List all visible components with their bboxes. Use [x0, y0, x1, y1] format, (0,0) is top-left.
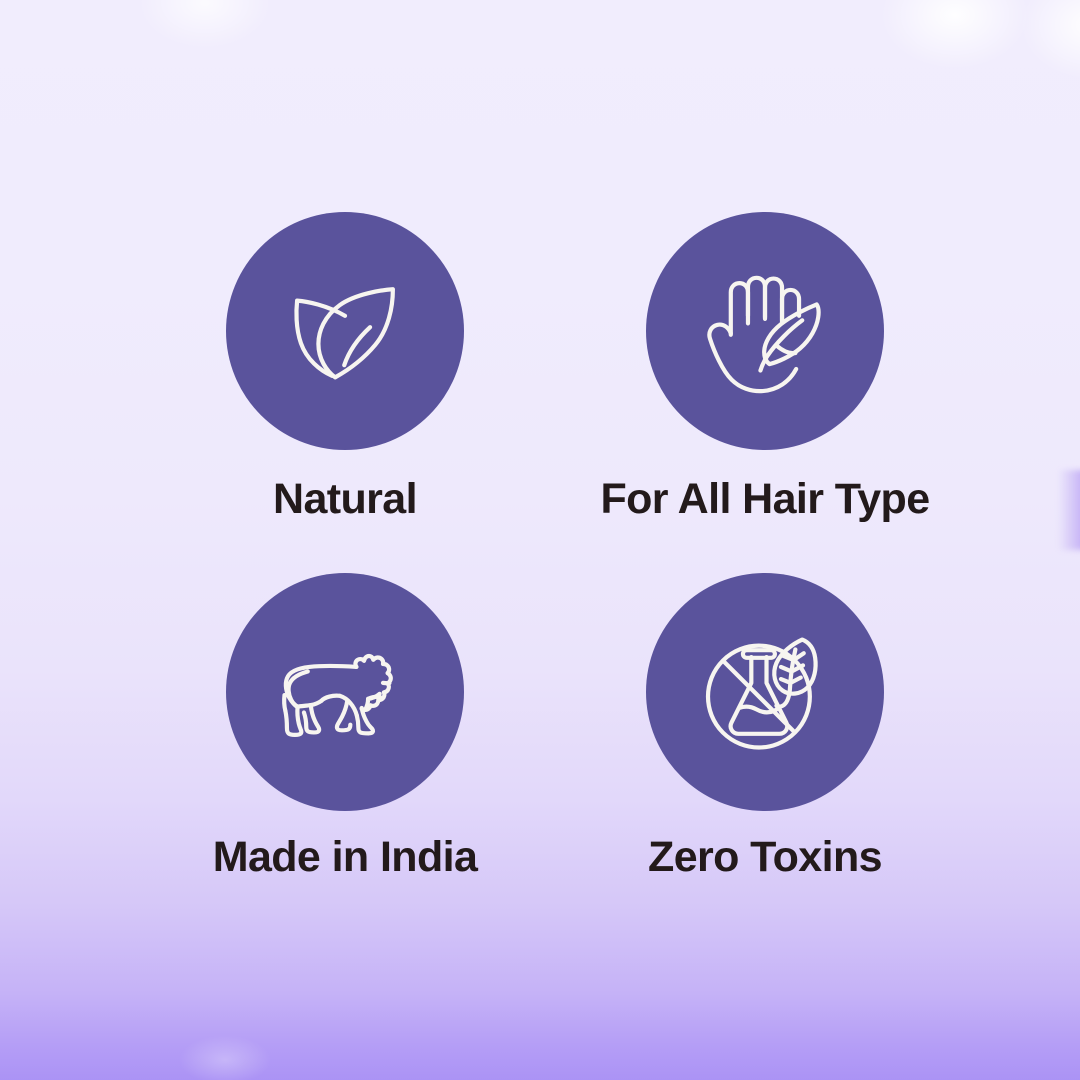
- feature-item-for-all-hair-type[interactable]: For All Hair Type: [555, 212, 975, 524]
- feature-badges-canvas: Natural: [0, 0, 1080, 1080]
- feature-label-zero-toxins: Zero Toxins: [648, 833, 882, 882]
- feature-icon-badge-zero-toxins: [646, 573, 884, 811]
- feature-item-zero-toxins[interactable]: Zero Toxins: [555, 573, 975, 882]
- feature-label-made-in-india: Made in India: [213, 833, 478, 882]
- hand-feather-icon: [689, 255, 841, 407]
- feature-item-made-in-india[interactable]: Made in India: [135, 573, 555, 882]
- feature-label-for-all-hair-type: For All Hair Type: [600, 475, 929, 524]
- leaves-icon: [269, 255, 421, 407]
- feature-icon-badge-made-in-india: [226, 573, 464, 811]
- lion-icon: [269, 616, 421, 768]
- feature-item-natural[interactable]: Natural: [135, 212, 555, 524]
- feature-label-natural: Natural: [273, 475, 417, 524]
- no-chemicals-flask-leaf-icon: [689, 616, 841, 768]
- feature-grid: Natural: [0, 0, 1080, 1080]
- feature-icon-badge-for-all-hair-type: [646, 212, 884, 450]
- feature-icon-badge-natural: [226, 212, 464, 450]
